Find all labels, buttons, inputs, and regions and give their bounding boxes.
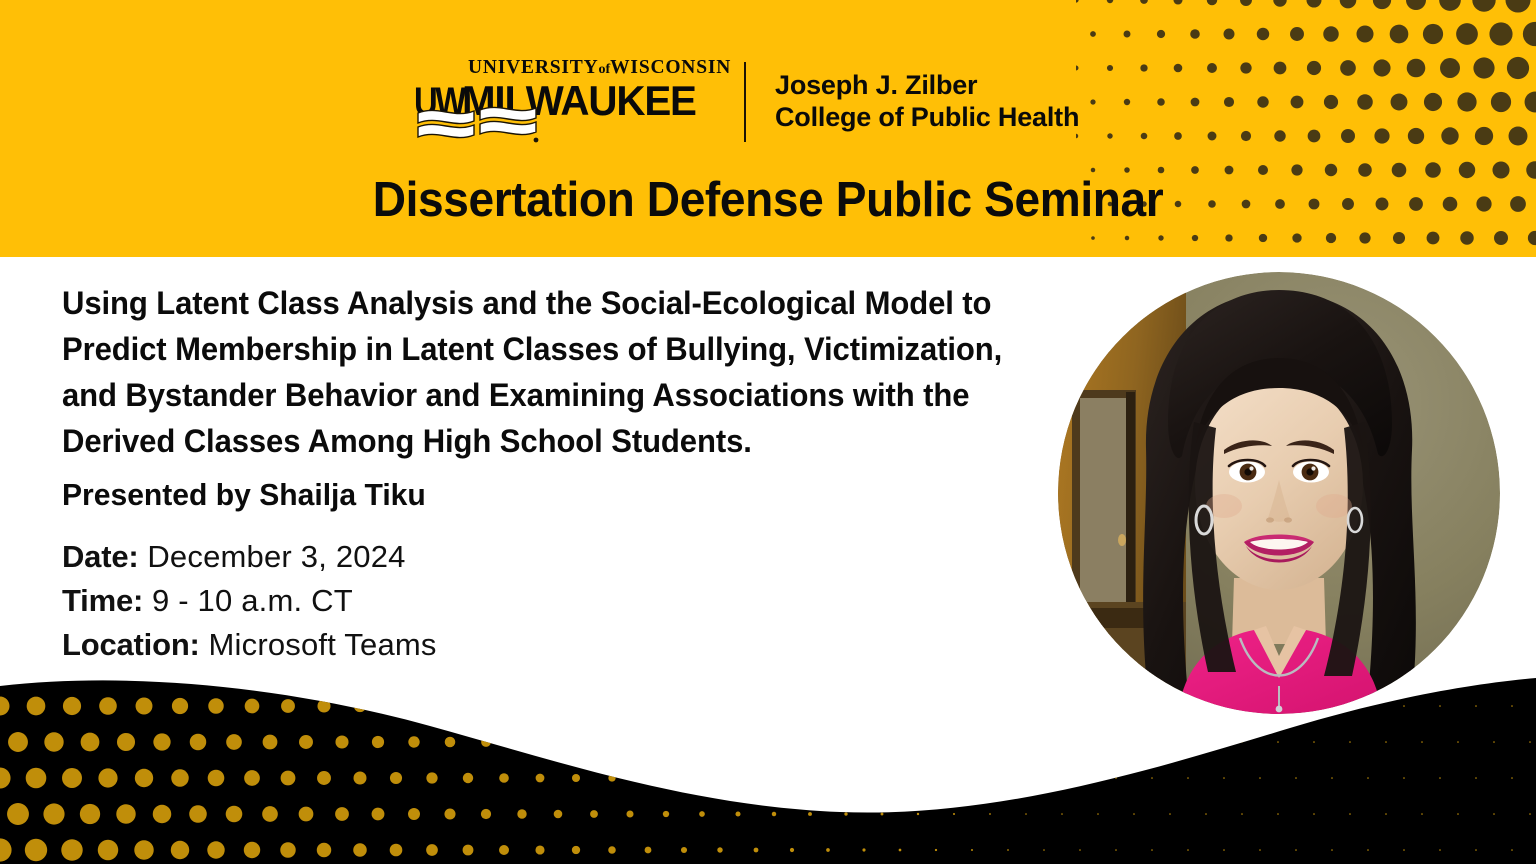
detail-value-date: December 3, 2024 — [147, 539, 405, 574]
uwm-flag-icon — [416, 104, 542, 144]
vertical-divider-icon — [744, 62, 746, 142]
logo-wisconsin-word: WISCONSIN — [610, 57, 731, 78]
detail-label-time: Time: — [62, 583, 143, 618]
college-name-line2: College of Public Health — [775, 102, 1079, 134]
presenter-name: Presented by Shailja Tiku — [62, 477, 426, 513]
detail-label-date: Date: — [62, 539, 139, 574]
uwm-logo-university-line: UNIVERSITYofWISCONSIN — [468, 58, 724, 78]
page-title: Dissertation Defense Public Seminar — [46, 172, 1490, 228]
detail-value-time: 9 - 10 a.m. CT — [152, 583, 353, 618]
college-name: Joseph J. Zilber College of Public Healt… — [775, 70, 1079, 134]
uwm-logo: UNIVERSITYofWISCONSIN UW MILWAUKEE — [414, 58, 724, 146]
detail-row-time: Time: 9 - 10 a.m. CT — [62, 579, 437, 623]
header-band: UNIVERSITYofWISCONSIN UW MILWAUKEE Josep… — [0, 0, 1536, 257]
presenter-portrait-photo — [1058, 272, 1500, 714]
detail-row-date: Date: December 3, 2024 — [62, 535, 437, 579]
college-name-line1: Joseph J. Zilber — [775, 70, 1079, 102]
seminar-flyer: UNIVERSITYofWISCONSIN UW MILWAUKEE Josep… — [0, 0, 1536, 864]
talk-title: Using Latent Class Analysis and the Soci… — [62, 280, 1022, 464]
logo-university-word: UNIVERSITY — [468, 57, 598, 78]
logo-of-word: of — [598, 62, 610, 77]
